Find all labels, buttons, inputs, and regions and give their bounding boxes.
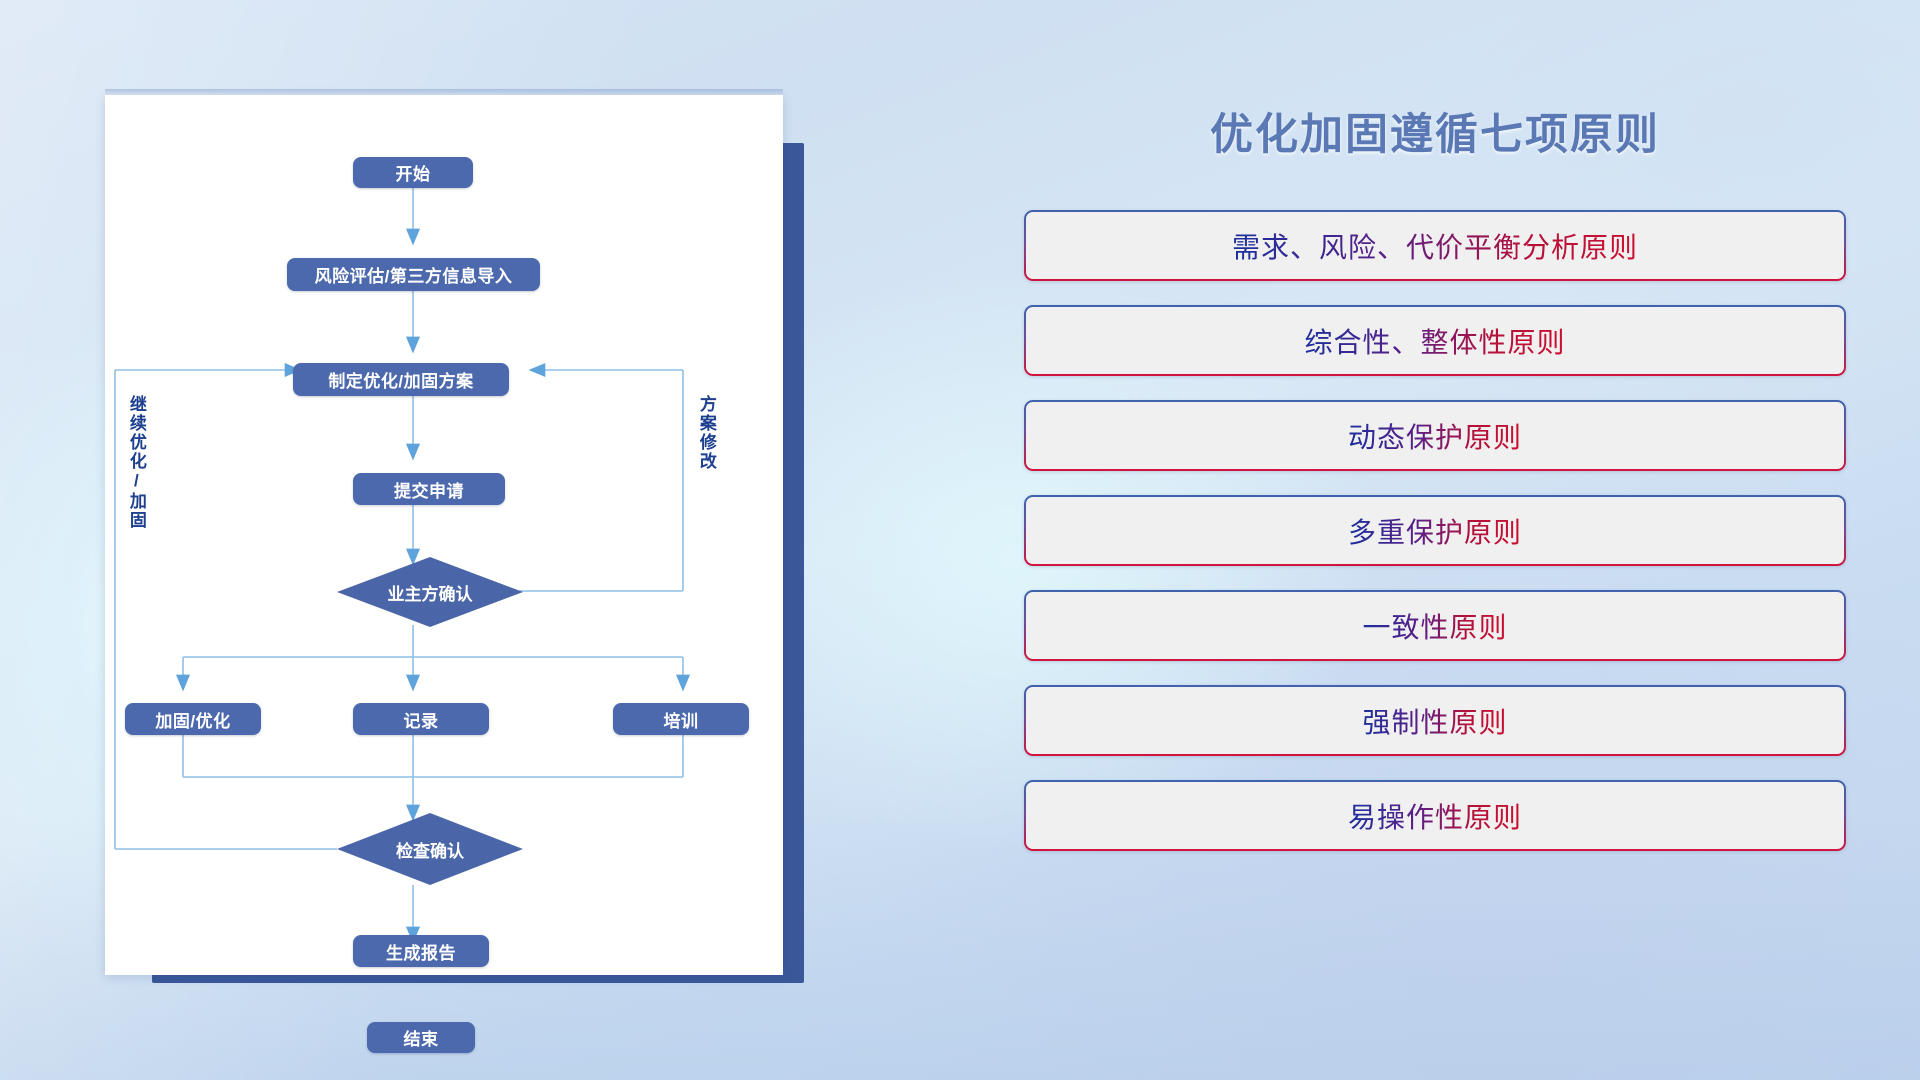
flow-node-label: 提交申请	[394, 477, 464, 502]
flow-node-plan[interactable]: 制定优化/加固方案	[293, 363, 509, 396]
flow-edge-label-left-loop: 继续优化/加固	[127, 395, 145, 535]
flow-node-owner-confirm[interactable]: 业主方确认	[337, 557, 523, 627]
principle-label: 动态保护原则	[1348, 416, 1522, 456]
panel-title: 优化加固遵循七项原则	[1020, 100, 1850, 162]
principles-list: 需求、风险、代价平衡分析原则 综合性、整体性原则 动态保护原则 多重保护原则 一…	[1020, 210, 1850, 851]
flow-node-end[interactable]: 结束	[367, 1022, 475, 1053]
flow-node-label: 记录	[404, 707, 439, 732]
flow-node-start[interactable]: 开始	[353, 157, 473, 188]
flow-node-risk-assessment[interactable]: 风险评估/第三方信息导入	[287, 258, 540, 291]
flow-node-label: 开始	[396, 160, 431, 185]
flow-node-label: 检查确认	[396, 837, 464, 862]
flow-node-training[interactable]: 培训	[613, 703, 749, 735]
principle-label: 强制性原则	[1362, 701, 1507, 741]
flow-node-label: 结束	[404, 1025, 439, 1050]
flow-node-label: 培训	[664, 707, 699, 732]
principles-panel: 优化加固遵循七项原则 需求、风险、代价平衡分析原则 综合性、整体性原则 动态保护…	[1020, 95, 1850, 995]
flowchart-card: 开始 风险评估/第三方信息导入 制定优化/加固方案 提交申请 业主方确认 加固/…	[105, 95, 783, 975]
principle-label: 易操作性原则	[1348, 796, 1522, 836]
principle-item[interactable]: 多重保护原则	[1024, 495, 1846, 566]
principle-item[interactable]: 综合性、整体性原则	[1024, 305, 1846, 376]
flow-node-submit-application[interactable]: 提交申请	[353, 473, 505, 505]
flow-node-generate-report[interactable]: 生成报告	[353, 935, 489, 967]
principle-label: 综合性、整体性原则	[1304, 321, 1565, 361]
principle-item[interactable]: 需求、风险、代价平衡分析原则	[1024, 210, 1846, 281]
principle-item[interactable]: 一致性原则	[1024, 590, 1846, 661]
principle-item[interactable]: 动态保护原则	[1024, 400, 1846, 471]
principle-item[interactable]: 易操作性原则	[1024, 780, 1846, 851]
principle-label: 需求、风险、代价平衡分析原则	[1232, 226, 1638, 266]
flow-node-label: 制定优化/加固方案	[328, 367, 473, 392]
flow-node-reinforce-optimize[interactable]: 加固/优化	[125, 703, 261, 735]
flow-node-label: 风险评估/第三方信息导入	[315, 262, 513, 287]
flow-node-label: 加固/优化	[155, 707, 230, 732]
flow-node-record[interactable]: 记录	[353, 703, 489, 735]
flow-node-label: 业主方确认	[388, 580, 473, 605]
flowchart-diagram: 开始 风险评估/第三方信息导入 制定优化/加固方案 提交申请 业主方确认 加固/…	[105, 95, 783, 975]
principle-label: 一致性原则	[1362, 606, 1507, 646]
flow-node-label: 生成报告	[386, 939, 456, 964]
principle-label: 多重保护原则	[1348, 511, 1522, 551]
flow-node-check-confirm[interactable]: 检查确认	[337, 813, 523, 885]
principle-item[interactable]: 强制性原则	[1024, 685, 1846, 756]
flow-edge-label-right-loop: 方案修改	[697, 395, 715, 505]
